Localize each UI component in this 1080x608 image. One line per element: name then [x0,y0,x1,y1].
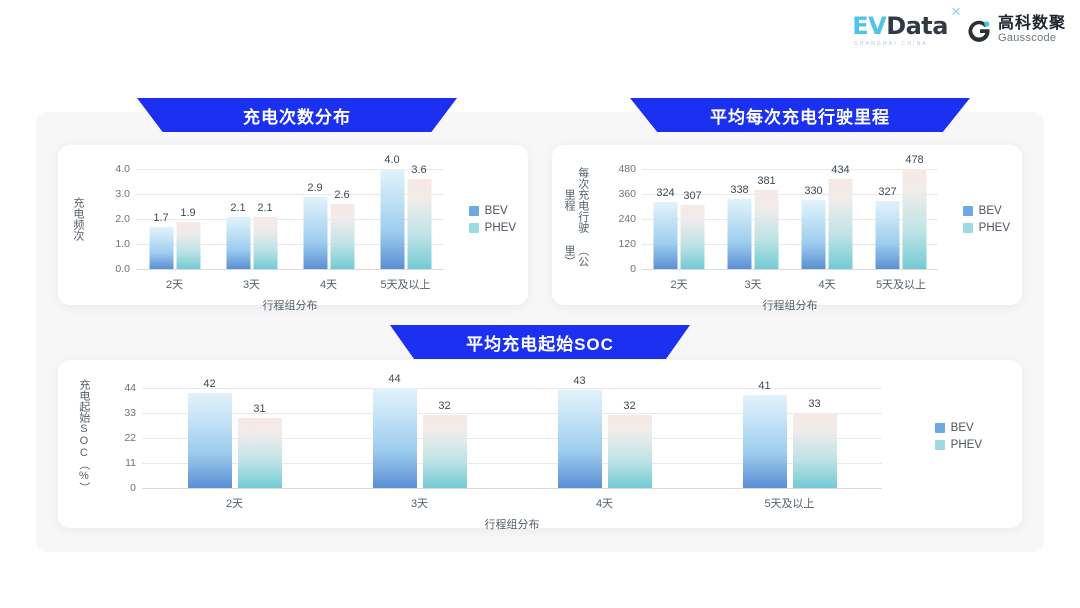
bar-bev[interactable]: 1.7 [149,227,173,270]
bar-phev[interactable]: 307 [681,205,705,269]
x-axis-tick: 3天 [411,495,428,511]
y-axis-tick: 0 [130,482,136,494]
logo-group: EVData✕ SHANGHAI CHINA 高科数聚 Gausscode [852,14,1066,47]
bar-group: 42312天 [188,388,282,488]
y-axis-tick: 240 [618,213,636,225]
y-axis-tick: 2.0 [115,213,130,225]
bar-group: 3274785天及以上 [876,169,927,269]
x-axis-tick: 2天 [166,276,183,292]
bar-bev[interactable]: 41 [743,395,787,488]
y-axis-tick: 1.0 [115,238,130,250]
bar-value-label: 1.7 [153,212,168,224]
section-title-soc: 平均充电起始SOC [390,325,690,359]
y-axis-label-range: 每次充电行驶里程（公里） [560,163,590,275]
x-axis-tick: 5天及以上 [764,495,814,511]
gridline: 0 [142,488,882,489]
gridline: 0 [642,269,938,270]
bar-phev[interactable]: 2.1 [253,217,277,270]
bar-value-label: 1.9 [180,207,195,219]
legend-item-bev[interactable]: BEV [469,205,516,217]
chart-card-soc: 充电起始SOC（%） 44332211042312天44323天43324天41… [58,360,1022,528]
gausscode-mark-icon [966,18,992,44]
legend-item-phev[interactable]: PHEV [469,222,516,234]
y-axis-label-line: 充电频次 [70,197,84,241]
legend-label-bev: BEV [485,205,508,217]
y-axis-tick: 3.0 [115,188,130,200]
bar-group: 2.92.64天 [303,169,354,269]
chart-card-charging-count: 充电频次 4.03.02.01.00.01.71.92天2.12.13天2.92… [58,145,528,305]
bar-phev[interactable]: 32 [608,415,652,488]
bar-phev[interactable]: 434 [829,179,853,269]
y-axis-label-line: （%） [76,459,90,493]
plot-area-charging-count: 4.03.02.01.00.01.71.92天2.12.13天2.92.64天4… [136,169,444,269]
chart-soc: 充电起始SOC（%） 44332211042312天44323天43324天41… [58,360,1022,528]
x-axis-tick: 4天 [818,276,835,292]
bar-value-label: 478 [905,154,923,166]
y-axis-label-line: （公里） [561,238,589,275]
bar-bev[interactable]: 42 [188,393,232,488]
evdata-wordmark-suffix: Data [886,12,948,40]
legend-label-phev: PHEV [485,222,516,234]
bar-value-label: 327 [878,186,896,198]
legend-charging-count: BEV PHEV [469,205,516,234]
page-header: EVData✕ SHANGHAI CHINA 高科数聚 Gausscode [0,0,1080,62]
gridline: 0.0 [136,269,444,270]
bar-group: 4.03.65天及以上 [380,169,431,269]
plot-area-soc: 44332211042312天44323天43324天41335天及以上 [142,388,882,488]
chart-card-range: 每次充电行驶里程（公里） 48036024012003243072天338381… [552,145,1022,305]
y-axis-tick: 22 [124,432,136,444]
evdata-logo: EVData✕ SHANGHAI CHINA [852,14,948,47]
x-axis-tick: 3天 [744,276,761,292]
bar-bev[interactable]: 44 [373,388,417,488]
y-axis-tick: 120 [618,238,636,250]
bar-value-label: 33 [808,398,820,410]
bar-phev[interactable]: 31 [238,418,282,488]
gausscode-text: 高科数聚 Gausscode [998,16,1066,44]
legend-label-phev: PHEV [951,439,982,451]
legend-item-bev[interactable]: BEV [963,205,1010,217]
bar-value-label: 42 [203,378,215,390]
bar-value-label: 324 [656,187,674,199]
bar-bev[interactable]: 330 [802,200,826,269]
legend-range: BEV PHEV [963,205,1010,234]
y-axis-tick: 44 [124,382,136,394]
gausscode-name-cn: 高科数聚 [998,16,1066,33]
y-axis-tick: 0.0 [115,263,130,275]
legend-item-bev[interactable]: BEV [935,422,982,434]
x-axis-tick: 2天 [670,276,687,292]
bar-value-label: 307 [683,190,701,202]
bar-value-label: 434 [831,164,849,176]
bar-bev[interactable]: 338 [728,199,752,269]
bar-group: 44323天 [373,388,467,488]
bar-phev[interactable]: 478 [903,169,927,269]
bar-value-label: 44 [388,373,400,385]
bar-value-label: 2.1 [257,202,272,214]
bar-value-label: 330 [804,185,822,197]
bar-value-label: 43 [573,375,585,387]
bar-bev[interactable]: 43 [558,390,602,488]
legend-swatch-phev-icon [963,223,973,233]
evdata-subtitle: SHANGHAI CHINA [854,41,928,47]
bar-bev[interactable]: 4.0 [380,169,404,269]
bar-group: 3243072天 [654,169,705,269]
x-axis-tick: 4天 [596,495,613,511]
legend-item-phev[interactable]: PHEV [963,222,1010,234]
bar-value-label: 31 [253,403,265,415]
chart-charging-count: 充电频次 4.03.02.01.00.01.71.92天2.12.13天2.92… [58,145,528,305]
section-title-charging-count: 充电次数分布 [137,98,457,132]
evdata-cross-icon: ✕ [951,6,961,19]
bar-bev[interactable]: 327 [876,201,900,269]
legend-swatch-bev-icon [963,206,973,216]
section-title-range: 平均每次充电行驶里程 [630,98,970,132]
evdata-wordmark-prefix: EV [852,12,886,40]
gausscode-logo: 高科数聚 Gausscode [966,16,1066,44]
bar-bev[interactable]: 2.9 [303,197,327,270]
legend-label-bev: BEV [951,422,974,434]
legend-label-phev: PHEV [979,222,1010,234]
bar-group: 43324天 [558,388,652,488]
legend-swatch-bev-icon [469,206,479,216]
bar-phev[interactable]: 1.9 [176,222,200,270]
bar-value-label: 381 [757,175,775,187]
y-axis-label-line: 充电起始SOC [76,379,90,459]
bar-group: 1.71.92天 [149,169,200,269]
legend-swatch-bev-icon [935,423,945,433]
y-axis-tick: 11 [125,457,136,469]
x-axis-tick: 5天及以上 [380,276,430,292]
legend-swatch-phev-icon [469,223,479,233]
x-axis-tick: 3天 [243,276,260,292]
gausscode-name-en: Gausscode [998,33,1066,45]
y-axis-tick: 480 [618,163,636,175]
bar-bev[interactable]: 2.1 [226,217,250,270]
chart-range: 每次充电行驶里程（公里） 48036024012003243072天338381… [552,145,1022,305]
x-axis-tick: 2天 [226,495,243,511]
y-axis-tick: 33 [124,407,136,419]
x-axis-label-charging-count: 行程组分布 [136,297,444,313]
y-axis-label-soc: 充电起始SOC（%） [68,378,98,494]
bar-group: 41335天及以上 [743,388,837,488]
legend-soc: BEV PHEV [935,422,982,451]
y-axis-label-line: 每次充电行驶里程 [561,163,589,238]
bar-value-label: 32 [438,400,450,412]
bar-bev[interactable]: 324 [654,202,678,270]
bar-value-label: 3.6 [411,164,426,176]
bar-value-label: 2.9 [307,182,322,194]
y-axis-tick: 0 [630,263,636,275]
legend-label-bev: BEV [979,205,1002,217]
x-axis-tick: 5天及以上 [876,276,926,292]
bar-value-label: 32 [623,400,635,412]
bar-group: 2.12.13天 [226,169,277,269]
legend-swatch-phev-icon [935,440,945,450]
y-axis-label-charging-count: 充电频次 [70,167,84,271]
bar-phev[interactable]: 381 [755,190,779,269]
bar-phev[interactable]: 3.6 [407,179,431,269]
y-axis-tick: 360 [618,188,636,200]
bar-group: 3383813天 [728,169,779,269]
bar-value-label: 2.6 [334,189,349,201]
bar-group: 3304344天 [802,169,853,269]
x-axis-label-range: 行程组分布 [642,297,938,313]
bar-value-label: 41 [758,380,770,392]
bar-value-label: 2.1 [230,202,245,214]
bar-phev[interactable]: 32 [423,415,467,488]
bar-phev[interactable]: 2.6 [330,204,354,269]
y-axis-tick: 4.0 [115,163,130,175]
bar-value-label: 338 [730,184,748,196]
legend-item-phev[interactable]: PHEV [935,439,982,451]
plot-area-range: 48036024012003243072天3383813天3304344天327… [642,169,938,269]
x-axis-tick: 4天 [320,276,337,292]
x-axis-label-soc: 行程组分布 [142,516,882,532]
bar-value-label: 4.0 [384,154,399,166]
bar-phev[interactable]: 33 [793,413,837,488]
evdata-wordmark: EVData✕ [852,14,948,38]
